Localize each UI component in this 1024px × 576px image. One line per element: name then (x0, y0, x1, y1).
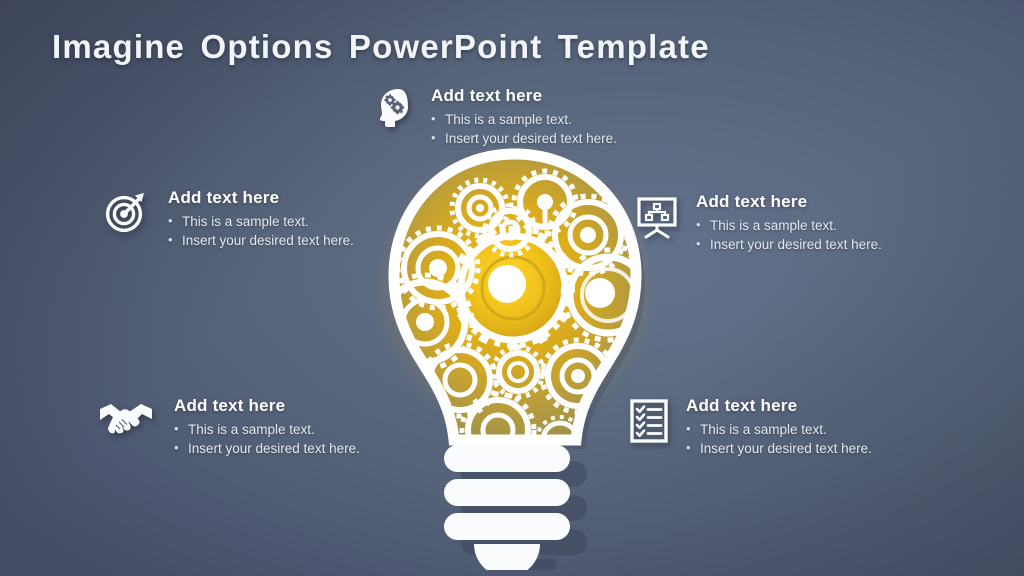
callout-heading: Add text here (168, 188, 354, 208)
callout-bullets: This is a sample text. Insert your desir… (686, 420, 872, 458)
callout-bullets: This is a sample text. Insert your desir… (696, 216, 882, 254)
list-item: Insert your desired text here. (686, 439, 872, 458)
list-item: Insert your desired text here. (696, 235, 882, 254)
page-title: Imagine Options PowerPoint Template (52, 28, 710, 66)
head-with-gears-icon (375, 86, 415, 130)
bulb-interior (370, 140, 660, 466)
callout-body: Add text here This is a sample text. Ins… (154, 394, 360, 458)
callout-body: Add text here This is a sample text. Ins… (415, 84, 617, 148)
list-item: Insert your desired text here. (174, 439, 360, 458)
callout-right-lower[interactable]: Add text here This is a sample text. Ins… (628, 394, 872, 458)
callout-bullets: This is a sample text. Insert your desir… (168, 212, 354, 250)
handshake-icon (98, 400, 154, 442)
callout-body: Add text here This is a sample text. Ins… (680, 190, 882, 254)
lightbulb-svg (370, 140, 660, 570)
list-item: This is a sample text. (174, 420, 360, 439)
callout-top[interactable]: Add text here This is a sample text. Ins… (375, 84, 617, 148)
callout-body: Add text here This is a sample text. Ins… (670, 394, 872, 458)
callout-left-lower[interactable]: Add text here This is a sample text. Ins… (98, 394, 360, 458)
checklist-icon (628, 398, 670, 444)
callout-bullets: This is a sample text. Insert your desir… (431, 110, 617, 148)
slide-canvas: Imagine Options PowerPoint Template (0, 0, 1024, 576)
callout-bullets: This is a sample text. Insert your desir… (174, 420, 360, 458)
callout-left-upper[interactable]: Add text here This is a sample text. Ins… (104, 186, 354, 250)
callout-heading: Add text here (174, 396, 360, 416)
list-item: Insert your desired text here. (431, 129, 617, 148)
lightbulb-graphic (370, 140, 660, 570)
gear-top-small (452, 180, 508, 236)
presentation-board-icon (634, 194, 680, 240)
list-item: This is a sample text. (168, 212, 354, 231)
callout-heading: Add text here (696, 192, 882, 212)
list-item: This is a sample text. (686, 420, 872, 439)
list-item: This is a sample text. (696, 216, 882, 235)
callout-heading: Add text here (686, 396, 872, 416)
callout-heading: Add text here (431, 86, 617, 106)
target-arrow-icon (104, 188, 150, 234)
list-item: This is a sample text. (431, 110, 617, 129)
callout-body: Add text here This is a sample text. Ins… (150, 186, 354, 250)
list-item: Insert your desired text here. (168, 231, 354, 250)
callout-right-upper[interactable]: Add text here This is a sample text. Ins… (634, 190, 882, 254)
